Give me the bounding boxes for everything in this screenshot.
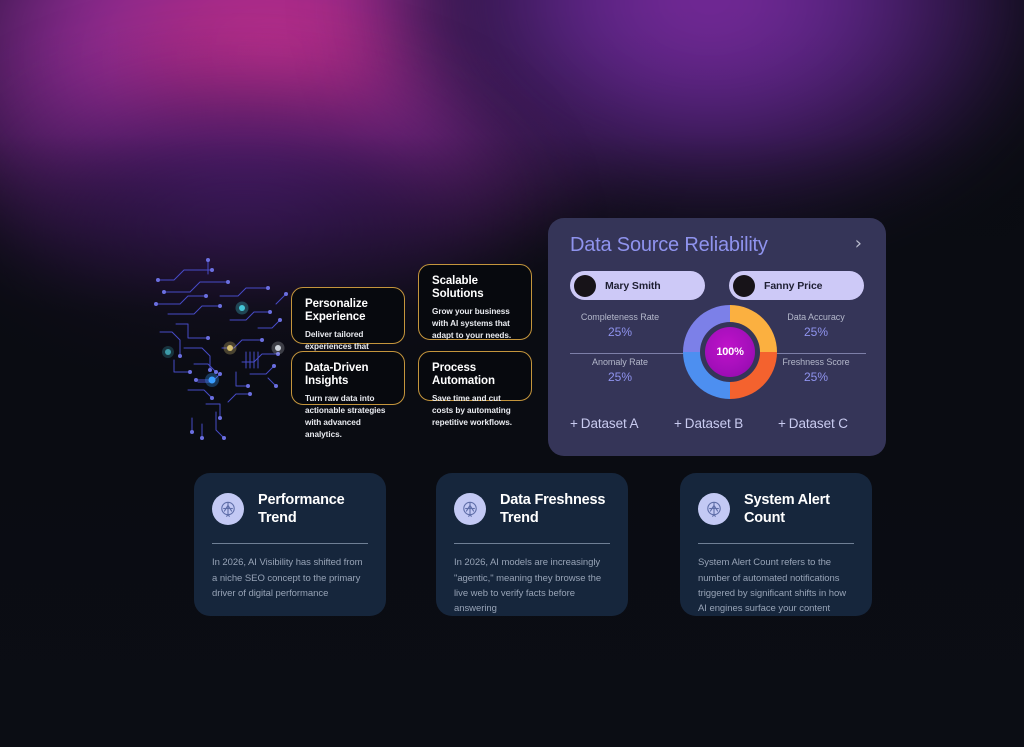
info-card-title: Data Freshness Trend [500, 491, 610, 527]
info-card-system-alert-count[interactable]: System Alert Count System Alert Count re… [680, 473, 872, 616]
add-dataset-c-link[interactable]: +Dataset C [778, 416, 866, 431]
info-card-performance-trend[interactable]: Performance Trend In 2026, AI Visibility… [194, 473, 386, 616]
feature-title: Personalize Experience [305, 298, 391, 324]
metric-value: 25% [764, 370, 868, 384]
compass-icon [698, 493, 730, 525]
dataset-label: Dataset B [685, 416, 743, 431]
feature-card-process-automation[interactable]: Process Automation Save time and cut cos… [418, 351, 532, 401]
metric-value: 25% [568, 370, 672, 384]
info-card-description: In 2026, AI models are increasingly "age… [454, 555, 610, 617]
feature-title: Process Automation [432, 362, 518, 388]
plus-icon: + [570, 416, 578, 431]
plus-icon: + [674, 416, 682, 431]
add-dataset-b-link[interactable]: +Dataset B [674, 416, 778, 431]
metric-label: Freshness Score [764, 357, 868, 367]
metric-divider-left [570, 353, 698, 354]
metric-anomaly-rate: Anomaly Rate 25% [568, 357, 672, 384]
feature-card-personalize-experience[interactable]: Personalize Experience Deliver tailored … [291, 287, 405, 344]
page-root: Personalize Experience Deliver tailored … [0, 0, 1024, 747]
feature-description: Save time and cut costs by automating re… [432, 393, 518, 429]
user-pill-fanny-price[interactable]: Fanny Price [729, 271, 864, 300]
info-card-description: System Alert Count refers to the number … [698, 555, 854, 617]
avatar [733, 275, 755, 297]
avatar [574, 275, 596, 297]
feature-description: Grow your business with AI systems that … [432, 306, 518, 342]
plus-icon: + [778, 416, 786, 431]
info-card-description: In 2026, AI Visibility has shifted from … [212, 555, 368, 601]
metrics-area: Completeness Rate 25% Data Accuracy 25% … [570, 312, 864, 398]
chevron-right-icon[interactable]: › [853, 235, 864, 256]
dataset-label: Dataset A [581, 416, 639, 431]
metric-value: 25% [764, 325, 868, 339]
feature-card-scalable-solutions[interactable]: Scalable Solutions Grow your business wi… [418, 264, 532, 340]
info-card-data-freshness-trend[interactable]: Data Freshness Trend In 2026, AI models … [436, 473, 628, 616]
donut-center-value: 100% [716, 346, 743, 358]
feature-title: Scalable Solutions [432, 275, 518, 301]
add-dataset-a-link[interactable]: +Dataset A [570, 416, 674, 431]
donut-center-badge: 100% [705, 327, 755, 377]
metric-label: Anomaly Rate [568, 357, 672, 367]
user-name: Mary Smith [605, 280, 661, 292]
circuit-brain-icon [150, 252, 300, 444]
compass-icon [454, 493, 486, 525]
divider [698, 543, 854, 544]
donut-ring: 100% [683, 305, 777, 399]
feature-title: Data-Driven Insights [305, 362, 391, 388]
info-card-header: Performance Trend [212, 491, 368, 527]
dataset-label: Dataset C [789, 416, 848, 431]
info-card-title: Performance Trend [258, 491, 368, 527]
metric-value: 25% [568, 325, 672, 339]
metric-freshness-score: Freshness Score 25% [764, 357, 868, 384]
page-title: Data Source Reliability [570, 234, 768, 257]
feature-description: Turn raw data into actionable strategies… [305, 393, 391, 441]
user-name: Fanny Price [764, 280, 822, 292]
metric-data-accuracy: Data Accuracy 25% [764, 312, 868, 339]
panel-header: Data Source Reliability › [570, 234, 864, 257]
feature-card-data-driven-insights[interactable]: Data-Driven Insights Turn raw data into … [291, 351, 405, 405]
metric-label: Data Accuracy [764, 312, 868, 322]
divider [454, 543, 610, 544]
user-pill-mary-smith[interactable]: Mary Smith [570, 271, 705, 300]
divider [212, 543, 368, 544]
metric-completeness-rate: Completeness Rate 25% [568, 312, 672, 339]
dataset-links-row: +Dataset A +Dataset B +Dataset C [570, 416, 866, 431]
user-pill-row: Mary Smith Fanny Price [570, 271, 864, 300]
compass-icon [212, 493, 244, 525]
info-card-header: Data Freshness Trend [454, 491, 610, 527]
data-source-reliability-panel: Data Source Reliability › Mary Smith Fan… [548, 218, 886, 456]
metric-label: Completeness Rate [568, 312, 672, 322]
info-card-header: System Alert Count [698, 491, 854, 527]
info-card-title: System Alert Count [744, 491, 854, 527]
reliability-donut-chart[interactable]: 100% [683, 305, 777, 399]
